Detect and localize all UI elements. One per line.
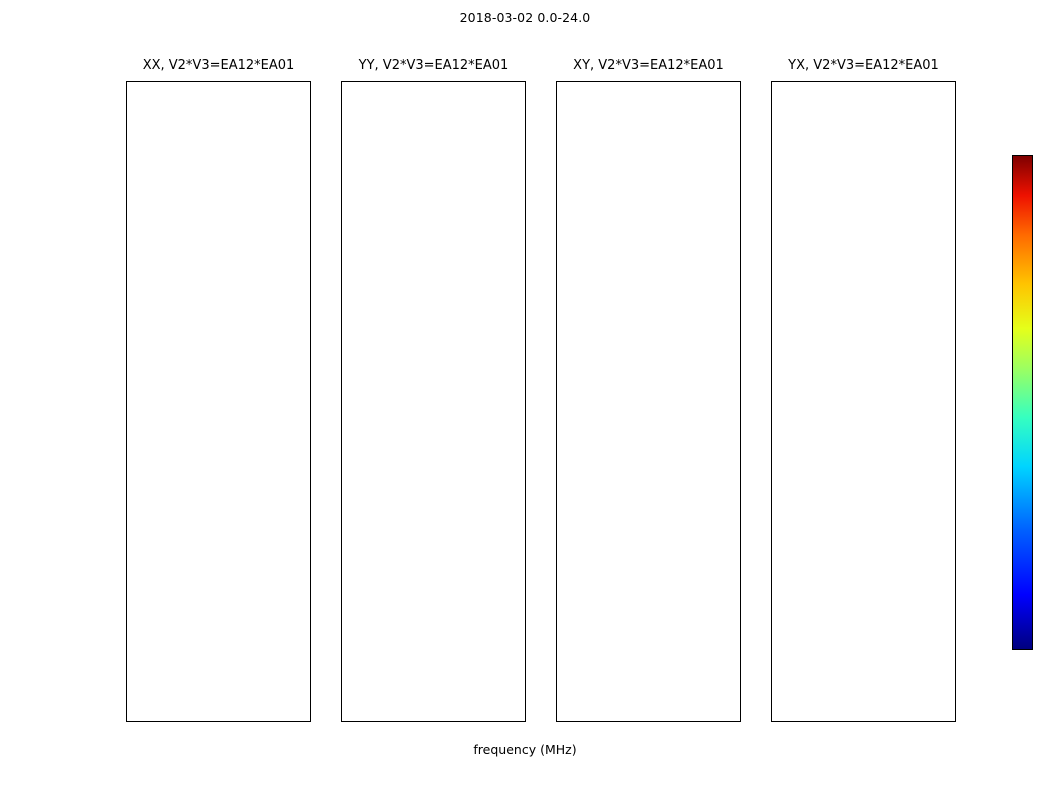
waterfall-panel-xy[interactable] bbox=[556, 81, 741, 722]
panel-title-xy: XY, V2*V3=EA12*EA01 bbox=[556, 58, 741, 73]
waterfall-panel-yy[interactable] bbox=[341, 81, 526, 722]
figure-canvas: 2018-03-02 0.0-24.0 XX, V2*V3=EA12*EA01 … bbox=[0, 0, 1050, 800]
colorbar[interactable] bbox=[1012, 155, 1033, 650]
panel-title-xx: XX, V2*V3=EA12*EA01 bbox=[126, 58, 311, 73]
panel-title-yy: YY, V2*V3=EA12*EA01 bbox=[341, 58, 526, 73]
figure-suptitle: 2018-03-02 0.0-24.0 bbox=[0, 10, 1050, 25]
waterfall-panel-yx[interactable] bbox=[771, 81, 956, 722]
waterfall-panel-xx[interactable] bbox=[126, 81, 311, 722]
x-axis-label: frequency (MHz) bbox=[0, 742, 1050, 757]
panel-title-yx: YX, V2*V3=EA12*EA01 bbox=[771, 58, 956, 73]
